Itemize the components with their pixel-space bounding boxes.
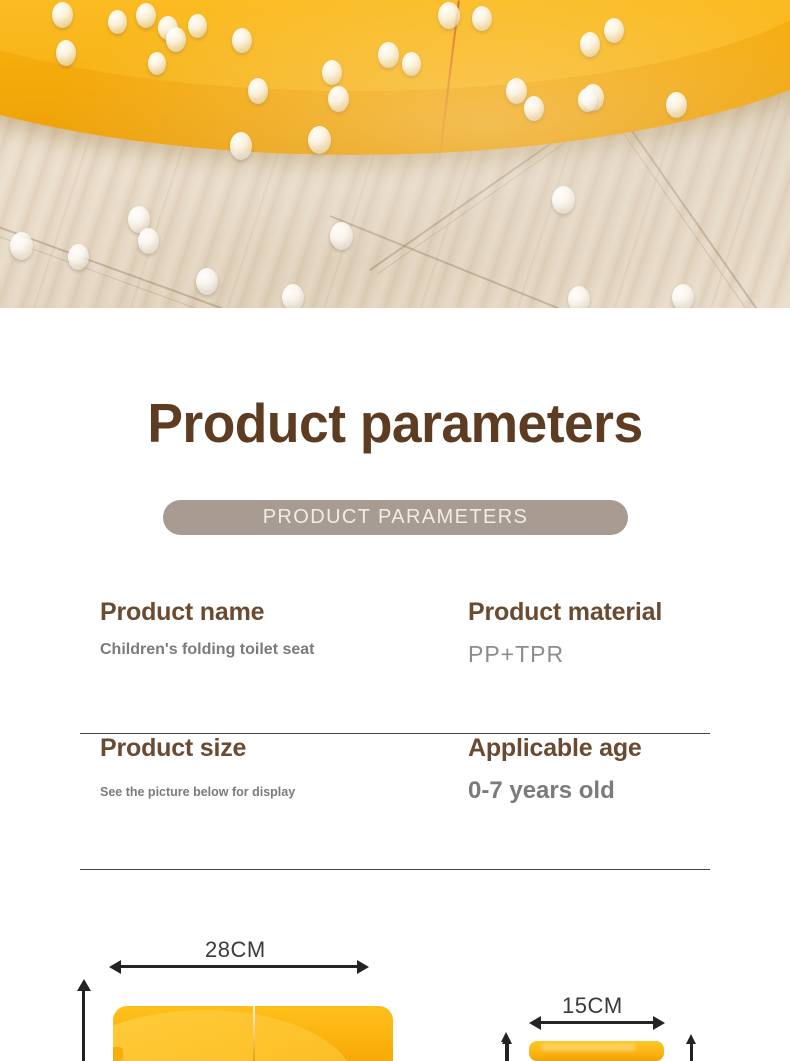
photo-highlight [0, 0, 790, 308]
hero-product-photo [0, 0, 790, 308]
product-side-view [529, 1041, 664, 1061]
product-front-curve [113, 1010, 355, 1061]
section-subtitle-label: PRODUCT PARAMETERS [263, 506, 529, 529]
table-row: Product size See the picture below for d… [80, 734, 710, 870]
height-dimension-arrow-left [82, 990, 85, 1061]
width-dimension-arrow [120, 965, 358, 968]
product-gloss-highlight [541, 1044, 636, 1051]
product-foot [383, 1047, 393, 1061]
width-dimension-label: 28CM [205, 937, 266, 963]
param-value: See the picture below for display [100, 785, 295, 799]
height-dimension-arrow-side-a [506, 1043, 509, 1061]
product-foot [113, 1047, 123, 1061]
param-value: 0-7 years old [468, 777, 642, 805]
product-fold-seam [253, 1006, 255, 1061]
depth-dimension-arrow [540, 1021, 654, 1024]
section-subtitle-badge: PRODUCT PARAMETERS [163, 500, 628, 535]
page-title: Product parameters [12, 393, 778, 453]
height-dimension-arrow-side-b [690, 1043, 693, 1061]
dimension-diagrams: 28CM 15CM [0, 612, 790, 753]
depth-dimension-label: 15CM [562, 993, 623, 1019]
product-front-view [113, 1006, 393, 1061]
